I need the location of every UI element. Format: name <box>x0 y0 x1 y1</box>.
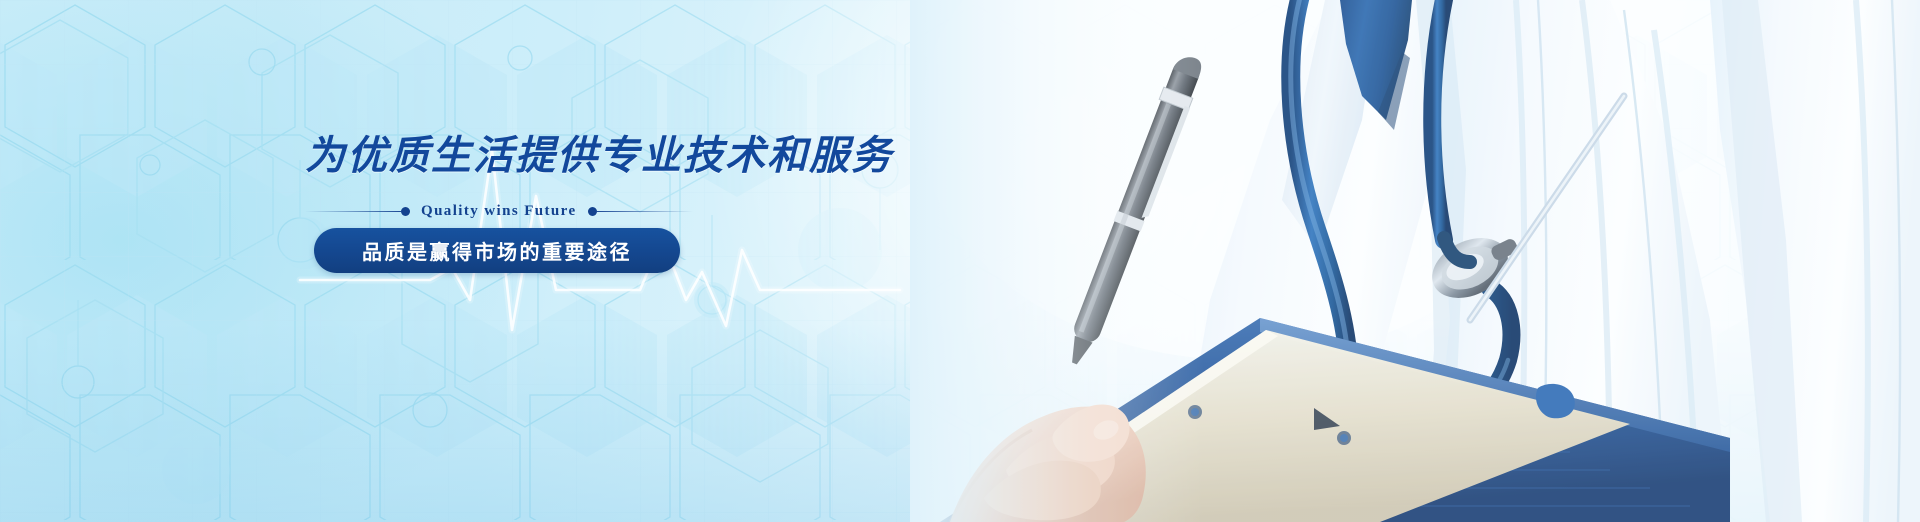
doctor-photo-svg <box>910 0 1920 522</box>
slogan-pill-label: 品质是赢得市场的重要途径 <box>362 236 632 265</box>
banner-tagline: Quality wins Future <box>410 203 588 220</box>
hero-banner: 为优质生活提供专业技术和服务 Quality wins Future 品质是赢得… <box>0 0 1920 522</box>
tagline-dot-right <box>588 207 597 216</box>
doctor-photo <box>910 0 1920 522</box>
tagline-rule-left <box>305 211 401 212</box>
slogan-pill-button[interactable]: 品质是赢得市场的重要途径 <box>314 228 680 273</box>
tagline-row: Quality wins Future <box>305 201 705 221</box>
tagline-dot-left <box>401 207 410 216</box>
tagline-rule-right <box>597 211 693 212</box>
banner-headline: 为优质生活提供专业技术和服务 <box>305 123 893 181</box>
banner-content: 为优质生活提供专业技术和服务 Quality wins Future 品质是赢得… <box>0 0 920 522</box>
